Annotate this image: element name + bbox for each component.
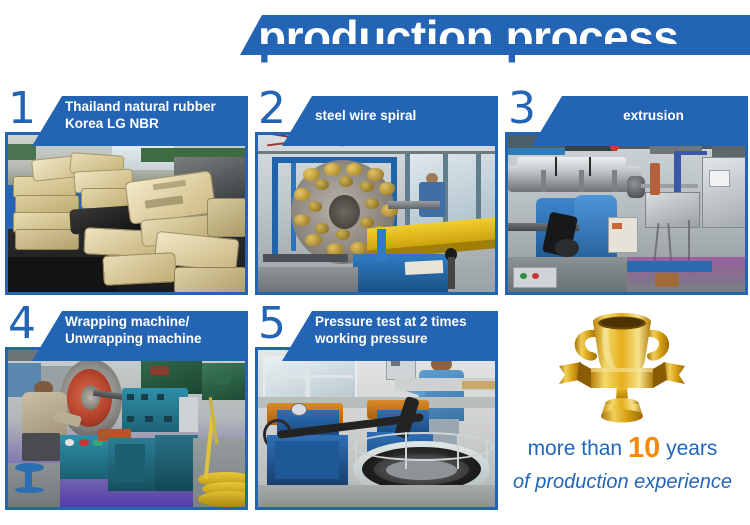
step-4-photo-frame <box>5 347 248 510</box>
step-3-label: extrusion <box>565 90 742 140</box>
step-1-number: 1 <box>8 86 36 132</box>
experience-years-value: 10 <box>628 432 660 464</box>
step-1-label: Thailand natural rubber Korea LG NBR <box>65 90 242 140</box>
step-4-label: Wrapping machine/ Unwrapping machine <box>65 305 242 355</box>
header-banner: production process production process <box>0 0 750 78</box>
step-1-label-line-2: Korea LG NBR <box>65 115 242 132</box>
experience-suffix: years <box>666 437 717 460</box>
experience-caption: of production experience <box>495 469 750 495</box>
experience-years-line: more than 10 years <box>495 435 750 462</box>
step-3-label-line-1: extrusion <box>623 107 684 124</box>
step-2-photo-frame <box>255 132 498 295</box>
step-1-photo-frame <box>5 132 248 295</box>
step-5-label-line-1: Pressure test at 2 times <box>315 313 492 330</box>
step-2-number: 2 <box>258 86 286 132</box>
step-5-label-line-2: working pressure <box>315 330 492 347</box>
step-4-label-line-1: Wrapping machine/ <box>65 313 242 330</box>
extrusion-line-photo <box>508 135 745 292</box>
step-4-number: 4 <box>8 301 36 347</box>
experience-prefix: more than <box>528 437 623 460</box>
step-5-photo-frame <box>255 347 498 510</box>
step-5-label: Pressure test at 2 times working pressur… <box>315 305 492 355</box>
step-panel-1: 1 Thailand natural rubber Korea LG NBR <box>5 90 248 305</box>
step-2-label: steel wire spiral <box>315 90 492 140</box>
step-panel-5: 5 Pressure test at 2 times working press… <box>255 305 498 520</box>
experience-block: more than 10 years of production experie… <box>495 302 750 525</box>
step-panel-4: 4 Wrapping machine/ Unwrapping machine <box>5 305 248 520</box>
step-3-photo-frame <box>505 132 748 295</box>
step-5-number: 5 <box>258 301 286 347</box>
step-2-label-line-1: steel wire spiral <box>315 107 492 124</box>
step-panel-2: 2 steel wire spiral <box>255 90 498 305</box>
step-3-number: 3 <box>508 86 536 132</box>
rubber-bales-photo <box>8 135 245 292</box>
spiraling-machine-photo <box>258 135 495 292</box>
step-4-label-line-2: Unwrapping machine <box>65 330 242 347</box>
gold-trophy-icon <box>557 304 687 429</box>
step-1-label-line-1: Thailand natural rubber <box>65 98 242 115</box>
production-process-infographic: production process production process <box>0 0 750 525</box>
step-panel-3: 3 extrusion <box>505 90 748 305</box>
pressure-test-photo <box>258 350 495 507</box>
wrapping-machine-photo <box>8 350 245 507</box>
